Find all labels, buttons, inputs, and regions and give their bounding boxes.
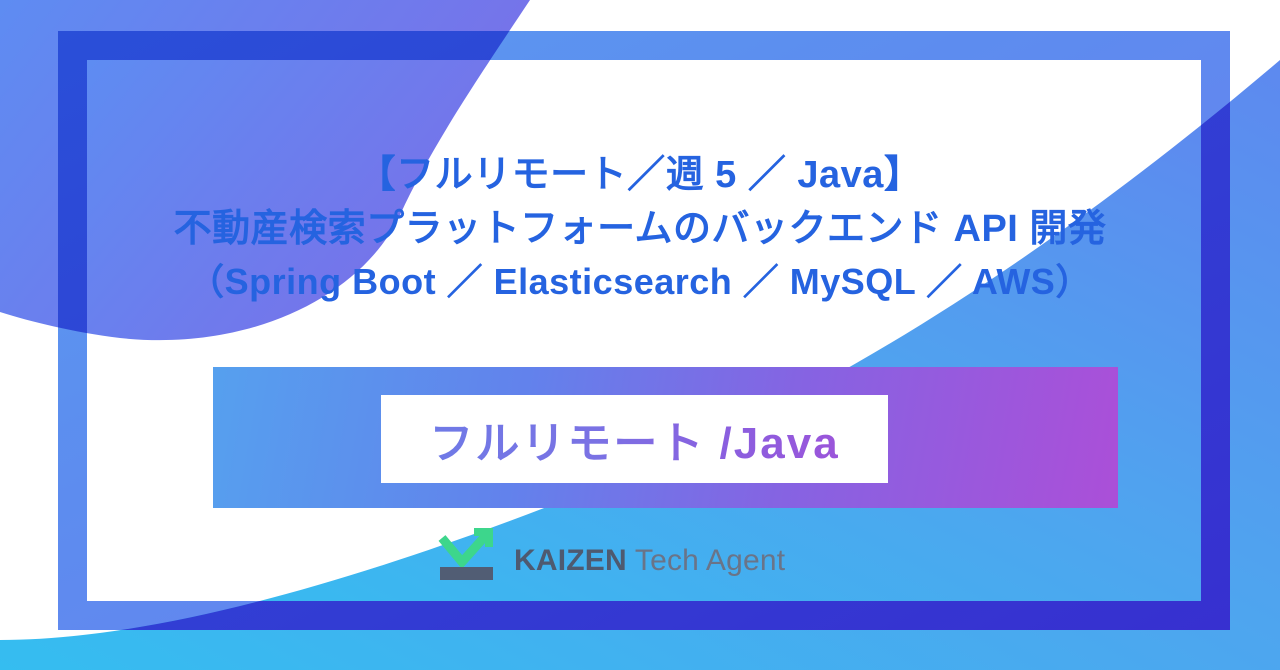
slide-content: 【フルリモート／週 5 ／ Java】 不動産検索プラットフォームのバックエンド… (0, 0, 1280, 670)
slide-canvas: 【フルリモート／週 5 ／ Java】 不動産検索プラットフォームのバックエンド… (0, 0, 1280, 670)
title-line-3: （Spring Boot ／ Elasticsearch ／ MySQL ／ A… (0, 264, 1280, 300)
logo-brand-suffix: Tech Agent (627, 544, 785, 577)
page-title: 【フルリモート／週 5 ／ Java】 不動産検索プラットフォームのバックエンド… (0, 156, 1280, 300)
title-line-2: 不動産検索プラットフォームのバックエンド API 開発 (0, 210, 1280, 248)
badge-highlight-box: フルリモート /Java (381, 395, 888, 483)
logo-wordmark: KAIZEN Tech Agent (514, 546, 785, 582)
badge-label: フルリモート /Java (429, 407, 839, 471)
logo-brand-name: KAIZEN (514, 544, 627, 577)
kaizen-logo: KAIZEN Tech Agent (438, 524, 785, 582)
title-line-1: 【フルリモート／週 5 ／ Java】 (0, 156, 1280, 194)
growth-arrow-icon (438, 524, 500, 582)
